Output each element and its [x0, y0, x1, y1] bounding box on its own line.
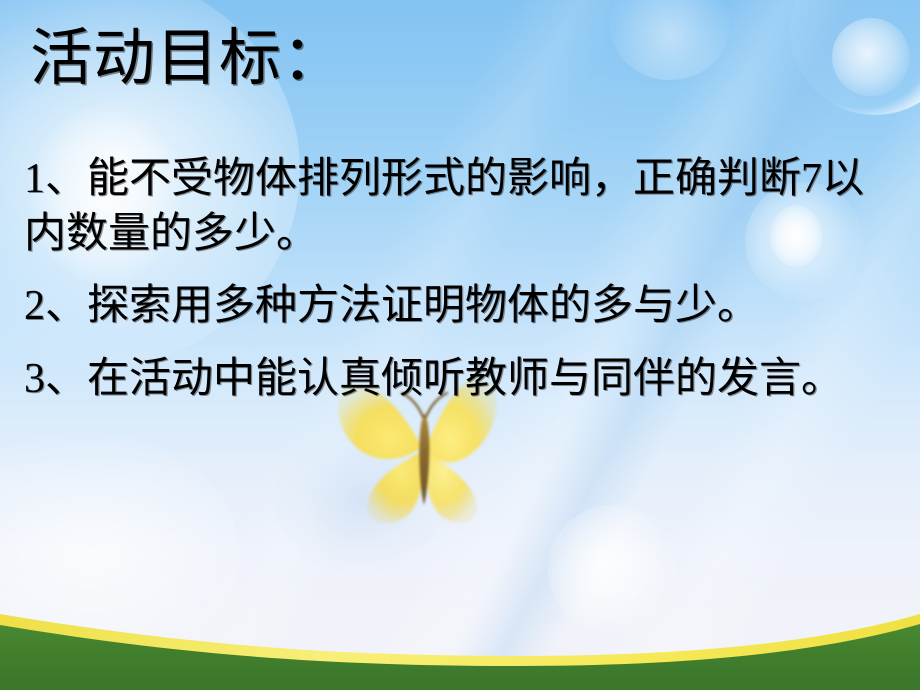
slide-canvas: 活动目标： 1、能不受物体排列形式的影响，正确判断7以内数量的多少。 2、探索用…: [0, 0, 920, 690]
list-item: 1、能不受物体排列形式的影响，正确判断7以内数量的多少。: [24, 152, 904, 261]
list-item: 3、在活动中能认真倾听教师与同伴的发言。: [24, 352, 904, 407]
objectives-list: 1、能不受物体排列形式的影响，正确判断7以内数量的多少。 2、探索用多种方法证明…: [24, 152, 904, 406]
green-hill: [0, 600, 920, 690]
page-title: 活动目标：: [30, 26, 345, 93]
list-item: 2、探索用多种方法证明物体的多与少。: [24, 279, 904, 334]
